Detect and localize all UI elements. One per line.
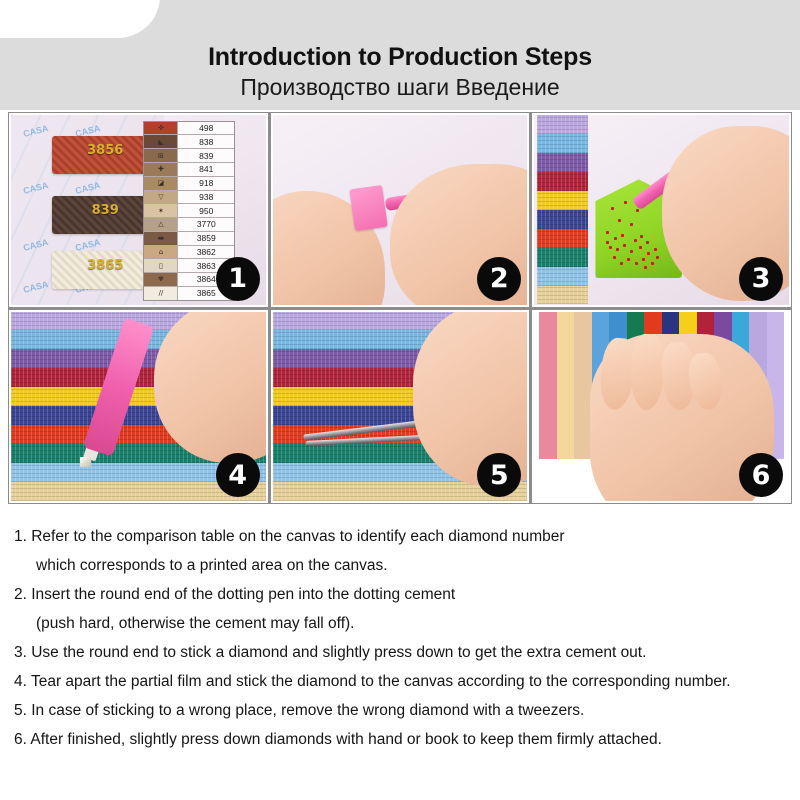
instruction-line: 5. In case of sticking to a wrong place,… <box>14 696 786 725</box>
diamond-bead <box>647 252 650 255</box>
color-number: 838 <box>178 135 234 148</box>
diamond-bead <box>624 201 627 204</box>
header-corner-notch <box>0 0 160 38</box>
color-number: 918 <box>178 177 234 190</box>
diamond-bead <box>623 244 626 247</box>
color-chart-row: △3770 <box>144 218 234 232</box>
canvas-stripe <box>537 286 588 305</box>
diamond-bead <box>611 207 614 210</box>
diamond-bead <box>630 250 633 253</box>
diamond-bead <box>606 231 609 234</box>
color-chart-row: ◪918 <box>144 177 234 191</box>
color-swatch-icon: ✚ <box>144 163 178 176</box>
instruction-list: 1. Refer to the comparison table on the … <box>0 510 800 754</box>
step-photo-6: 6 <box>534 312 789 502</box>
canvas-stripe <box>537 134 588 153</box>
step-badge-2: 2 <box>477 257 521 301</box>
canvas-stripe <box>537 210 588 229</box>
dotting-cement-square <box>349 185 388 231</box>
color-chart-row: ✚841 <box>144 163 234 177</box>
diamond-bead <box>656 256 659 259</box>
diamond-bead <box>606 241 609 244</box>
canvas-stripe <box>537 229 588 248</box>
diamond-bead <box>654 248 657 251</box>
instruction-line: 3. Use the round end to stick a diamond … <box>14 638 786 667</box>
step-cell-2: 2 <box>271 113 530 307</box>
instruction-line: 4. Tear apart the partial film and stick… <box>14 667 786 696</box>
diamond-bead <box>640 235 643 238</box>
color-number: 938 <box>178 191 234 204</box>
color-chart-row: ✜498 <box>144 122 234 136</box>
canvas-stripe <box>574 312 591 460</box>
color-number: 841 <box>178 163 234 176</box>
diamond-bead <box>616 248 619 251</box>
canvas-stripe <box>537 153 588 172</box>
color-swatch-icon: ⊞ <box>144 149 178 162</box>
canvas-stripe <box>537 191 588 210</box>
color-chart-row: ▽938 <box>144 191 234 205</box>
poster-header: Introduction to Production Steps Произво… <box>0 0 800 110</box>
step-badge-1: 1 <box>216 257 260 301</box>
diamond-bead <box>620 262 623 265</box>
diamond-bead <box>635 262 638 265</box>
canvas-stripe <box>537 172 588 191</box>
instruction-line: (push hard, otherwise the cement may fal… <box>14 609 786 638</box>
step-photo-3: 3 <box>534 115 789 305</box>
diamond-bead <box>609 246 612 249</box>
instruction-line: which corresponds to a printed area on t… <box>14 551 786 580</box>
step-cell-5: 5 <box>271 310 530 504</box>
step-badge-3: 3 <box>739 257 783 301</box>
color-number: 3862 <box>178 246 234 259</box>
color-swatch-icon: ✾ <box>144 273 178 286</box>
canvas-stripe <box>557 312 574 460</box>
diamond-bead <box>644 266 647 269</box>
canvas-stripe <box>537 115 588 134</box>
step-photo-grid: CASA CASA CASA CASA CASA CASA CASA CASA … <box>8 112 792 504</box>
color-number: 839 <box>178 149 234 162</box>
header-title-block: Introduction to Production Steps Произво… <box>0 42 800 101</box>
diamond-bead <box>630 223 633 226</box>
step-photo-2: 2 <box>273 115 528 305</box>
canvas-stripe <box>537 248 588 267</box>
step-cell-3: 3 <box>532 113 791 307</box>
color-swatch-icon: ▽ <box>144 191 178 204</box>
color-swatch-icon: △ <box>144 218 178 231</box>
instruction-line: 1. Refer to the comparison table on the … <box>14 522 786 551</box>
color-swatch-icon: ⌂ <box>144 246 178 259</box>
canvas-stripe <box>537 267 588 286</box>
diamond-bead <box>613 256 616 259</box>
step-photo-1: CASA CASA CASA CASA CASA CASA CASA CASA … <box>11 115 266 305</box>
step-cell-1: CASA CASA CASA CASA CASA CASA CASA CASA … <box>9 113 268 307</box>
color-chart-row: ◣838 <box>144 135 234 149</box>
instruction-line: 2. Insert the round end of the dotting p… <box>14 580 786 609</box>
color-swatch-icon: ◪ <box>144 177 178 190</box>
color-swatch-icon: ▬ <box>144 232 178 245</box>
color-number: 3770 <box>178 218 234 231</box>
color-chart-row: ⌂3862 <box>144 246 234 260</box>
color-number: 498 <box>178 122 234 135</box>
step-badge-4: 4 <box>216 453 260 497</box>
instruction-line: 6. After finished, slightly press down d… <box>14 725 786 754</box>
page-title-russian: Производство шаги Введение <box>0 73 800 101</box>
page-title-english: Introduction to Production Steps <box>0 42 800 72</box>
color-chart-row: ⊞839 <box>144 149 234 163</box>
color-swatch-icon: ✜ <box>144 122 178 135</box>
color-swatch-icon: ✶ <box>144 204 178 217</box>
diamond-bead <box>621 234 624 237</box>
color-swatch-icon: ◣ <box>144 135 178 148</box>
color-number: 950 <box>178 204 234 217</box>
diamond-bead <box>80 457 91 466</box>
diamond-bead <box>618 219 621 222</box>
diamond-bead <box>627 258 630 261</box>
color-number: 3859 <box>178 232 234 245</box>
diamond-bead <box>614 237 617 240</box>
striped-canvas <box>537 115 588 305</box>
diamond-bead <box>634 239 637 242</box>
step-photo-4: 4 <box>11 312 266 502</box>
step-cell-4: 4 <box>9 310 268 504</box>
step-badge-5: 5 <box>477 453 521 497</box>
color-chart-row: ✶950 <box>144 204 234 218</box>
color-chart-row: ▬3859 <box>144 232 234 246</box>
instruction-poster: Introduction to Production Steps Произво… <box>0 0 800 800</box>
color-swatch-icon: // <box>144 287 178 300</box>
step-photo-5: 5 <box>273 312 528 502</box>
canvas-stripe <box>539 312 556 460</box>
diamond-bead <box>639 246 642 249</box>
step-badge-6: 6 <box>739 453 783 497</box>
diamond-bead <box>636 209 639 212</box>
diamond-bead <box>642 258 645 261</box>
diamond-bead <box>646 241 649 244</box>
diamond-bead <box>651 262 654 265</box>
step-cell-6: 6 <box>532 310 791 504</box>
color-swatch-icon: ▯ <box>144 259 178 272</box>
